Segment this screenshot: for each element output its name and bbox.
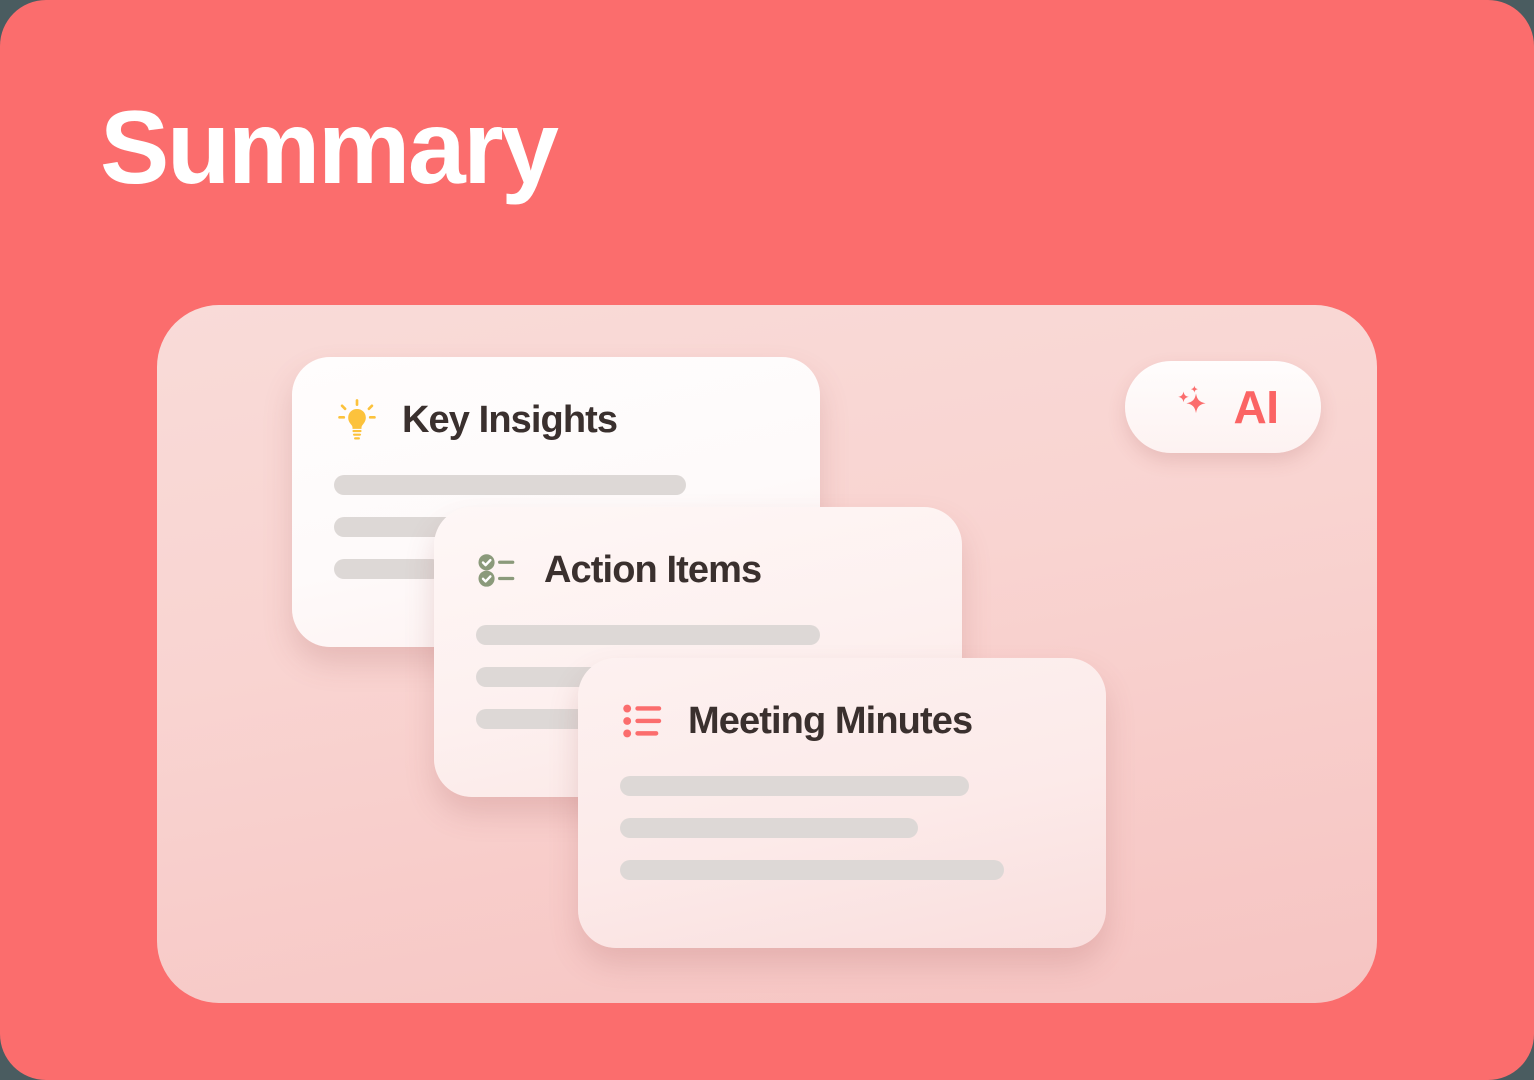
ai-badge[interactable]: AI	[1125, 361, 1321, 453]
checklist-icon	[474, 545, 524, 595]
placeholder-line	[620, 818, 918, 838]
lightbulb-icon	[332, 395, 382, 445]
card-meeting-minutes[interactable]: Meeting Minutes	[578, 658, 1106, 948]
placeholder-line	[334, 559, 442, 579]
card-title: Meeting Minutes	[688, 702, 972, 740]
placeholder-line	[334, 475, 686, 495]
sparkle-icon	[1168, 379, 1220, 436]
placeholder-line	[476, 625, 820, 645]
app-frame: Summary Key Insights	[0, 0, 1534, 1080]
ai-badge-label: AI	[1234, 384, 1279, 430]
card-header: Action Items	[474, 539, 761, 601]
card-header: Key Insights	[332, 389, 617, 451]
placeholder-line	[620, 860, 1004, 880]
placeholder-lines	[620, 776, 1004, 880]
card-title: Action Items	[544, 551, 761, 589]
card-header: Meeting Minutes	[618, 690, 972, 752]
bulleted-list-icon	[618, 696, 668, 746]
page-title: Summary	[100, 96, 557, 200]
card-title: Key Insights	[402, 401, 617, 439]
placeholder-line	[620, 776, 969, 796]
